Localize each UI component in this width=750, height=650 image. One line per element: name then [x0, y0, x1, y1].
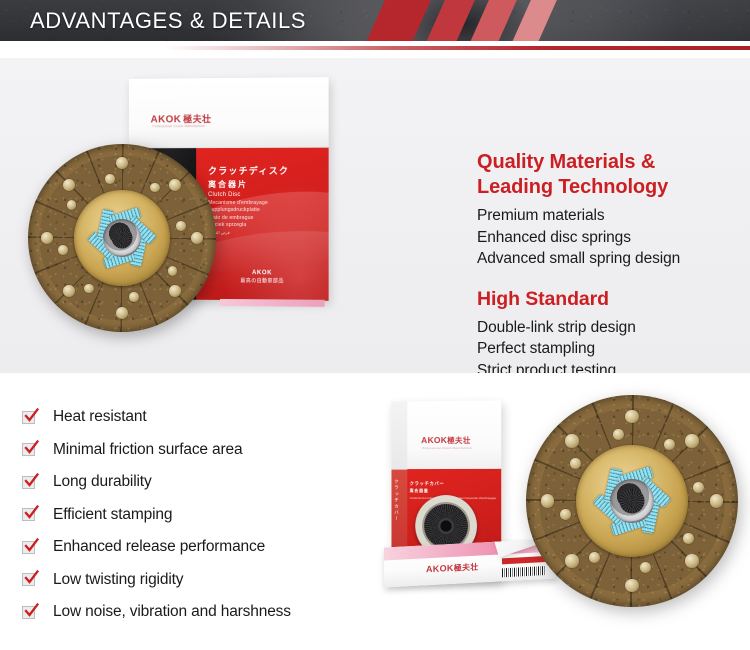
feature-item: Enhanced release performance [22, 531, 372, 564]
disc-rivet [589, 552, 600, 563]
standard-point-1: Double-link strip design [477, 317, 745, 339]
checkbox-checked-icon [22, 411, 35, 424]
checkbox-checked-icon [22, 573, 35, 586]
page-title: ADVANTAGES & DETAILS [30, 8, 306, 34]
feature-label: Low noise, vibration and harshness [53, 603, 291, 621]
disc-rivet [41, 232, 53, 244]
box-title-english: Clutch Disc [208, 192, 289, 198]
feature-label: Enhanced release performance [53, 538, 265, 556]
box-cover-titles: クラッチカバー 离合器盖 Cubierta del embrague Kuppl… [410, 481, 497, 501]
heading-high-standard: High Standard [477, 287, 745, 312]
feature-label: Heat resistant [53, 408, 147, 426]
bottom-section: Heat resistant Minimal friction surface … [0, 373, 750, 650]
box-lid-white: AKOK極夫壮 Professional Clutch Manufacturer [407, 400, 501, 469]
box-red-panel: クラッチディスク 离合器片 Clutch Disc Mecanisme d'em… [196, 148, 329, 301]
feature-label: Long durability [53, 473, 152, 491]
product-photo-clutch-disc-boxed: AKOK極夫壮 Professional Clutch Manufacturer… [18, 66, 458, 361]
box-footer-brand-name: AKOK [240, 270, 283, 276]
disc-rivet [116, 307, 128, 319]
box-title-german: Kupplungsdruckplatte [208, 207, 289, 213]
disc-spline-hub [112, 228, 133, 249]
akok-logo-text: AKOK [421, 435, 447, 445]
disc-rivet [116, 157, 128, 169]
quality-point-2: Enhanced disc springs [477, 227, 745, 249]
check-icon [24, 473, 39, 488]
box-title-polish: Dociek sprzegla [208, 222, 289, 228]
disc-rivet [84, 284, 93, 293]
akok-logo-cjk: 極夫壮 [447, 436, 470, 445]
box-title-spanish: Plato de embrague [208, 214, 289, 220]
standard-points-list: Double-link strip design Perfect stampli… [477, 317, 745, 382]
box-lid: AKOK極夫壮 Professional Clutch Manufacturer [129, 77, 329, 148]
checkbox-checked-icon [22, 443, 35, 456]
heading-quality-line1: Quality Materials & [477, 150, 745, 175]
disc-rivet [664, 439, 675, 450]
disc-rivet [560, 509, 571, 520]
disc-rivet [168, 266, 177, 275]
heading-quality-line2: Leading Technology [477, 175, 745, 200]
disc-rivet [710, 494, 723, 507]
product-photo-clutch-kit: クラッチカバー AKOK極夫壮 Professional Clutch Manu… [366, 383, 746, 633]
carton-barcode [502, 566, 546, 577]
heading-quality-materials: Quality Materials & Leading Technology [477, 150, 745, 200]
disc-rivet [565, 554, 578, 567]
checkbox-checked-icon [22, 541, 35, 554]
box-footer-brand-jp: 最高の自動車部品 [240, 277, 283, 284]
disc-rivet [693, 482, 704, 493]
feature-item: Low noise, vibration and harshness [22, 596, 372, 629]
disc-rivet [640, 562, 651, 573]
advantages-details-banner: ADVANTAGES & DETAILS AKOK極夫壮 Professiona… [0, 0, 750, 650]
quality-points-list: Premium materials Enhanced disc springs … [477, 205, 745, 270]
feature-item: Long durability [22, 466, 372, 499]
box-title-chinese: 离合器片 [208, 179, 289, 190]
feature-item: Minimal friction surface area [22, 434, 372, 467]
box-title-japanese: クラッチディスク [208, 164, 289, 177]
disc-rivet [613, 429, 624, 440]
check-icon [24, 505, 39, 520]
disc-rivet [685, 554, 698, 567]
check-icon [24, 603, 39, 618]
box-product-titles: クラッチディスク 离合器片 Clutch Disc Mecanisme d'em… [208, 164, 289, 235]
disc-rivet [625, 410, 638, 423]
box-cover-title-multi: Cubierta del embrague Kupplungsdeckel Co… [410, 496, 497, 500]
standard-point-2: Perfect stampling [477, 338, 745, 360]
disc-rivet [683, 533, 694, 544]
feature-label: Minimal friction surface area [53, 441, 242, 459]
box-bottom-strip [220, 299, 325, 307]
page-header: ADVANTAGES & DETAILS [0, 0, 750, 41]
disc-rivet [63, 285, 75, 297]
check-icon [24, 440, 39, 455]
top-section: AKOK極夫壮 Professional Clutch Manufacturer… [0, 58, 750, 373]
feature-item: Heat resistant [22, 401, 372, 434]
disc-rivet [685, 434, 698, 447]
carton-red-label [502, 556, 548, 564]
disc-rivet [129, 292, 138, 301]
checkbox-checked-icon [22, 508, 35, 521]
disc-rivet [150, 183, 159, 192]
disc-rivet [541, 494, 554, 507]
feature-label: Efficient stamping [53, 506, 172, 524]
clutch-disc-bottom [526, 395, 738, 607]
box-footer-brand: AKOK 最高の自動車部品 [240, 270, 283, 284]
feature-label: Low twisting rigidity [53, 571, 183, 589]
disc-rivet [58, 245, 67, 254]
disc-rivet [63, 179, 75, 191]
akok-logo-tagline: Professional Clutch Manufacturer [153, 124, 206, 128]
check-icon [24, 408, 39, 423]
check-icon [24, 570, 39, 585]
quality-point-3: Advanced small spring design [477, 248, 745, 270]
checkbox-checked-icon [22, 606, 35, 619]
disc-rivet [191, 232, 203, 244]
akok-logo-tagline: Professional Clutch Manufacturer [422, 446, 473, 450]
disc-rivet [570, 458, 581, 469]
akok-logo-cjk: 極夫壮 [454, 563, 479, 573]
disc-rivet [169, 285, 181, 297]
disc-rivet [565, 434, 578, 447]
box-title-arabic: قرص القابض [208, 230, 289, 235]
top-copy-block: Quality Materials & Leading Technology P… [477, 150, 745, 381]
disc-rivet [67, 200, 76, 209]
disc-spline-hub [620, 489, 645, 514]
akok-logo: AKOK極夫壮 [421, 435, 471, 446]
box-side-text: クラッチカバー [393, 479, 399, 522]
disc-rivet [625, 579, 638, 592]
box-cover-title-cn: 离合器盖 [410, 488, 497, 494]
disc-rivet [176, 221, 185, 230]
akok-logo: AKOK極夫壮 [426, 562, 479, 576]
akok-logo-cjk: 極夫壮 [183, 114, 211, 124]
disc-rivet [169, 179, 181, 191]
disc-rivet [105, 174, 114, 183]
box-cover-title-jp: クラッチカバー [410, 481, 497, 487]
feature-item: Efficient stamping [22, 499, 372, 532]
clutch-disc-top [28, 144, 216, 332]
product-box-flat-carton: AKOK極夫壮 AKOK [384, 538, 556, 587]
check-icon [24, 538, 39, 553]
feature-checklist: Heat resistant Minimal friction surface … [22, 401, 372, 629]
akok-logo-text: AKOK [426, 563, 454, 574]
checkbox-checked-icon [22, 476, 35, 489]
feature-item: Low twisting rigidity [22, 564, 372, 597]
box-title-french: Mecanisme d'embrayage [208, 199, 289, 205]
quality-point-1: Premium materials [477, 205, 745, 227]
header-accent-rule [0, 46, 750, 50]
